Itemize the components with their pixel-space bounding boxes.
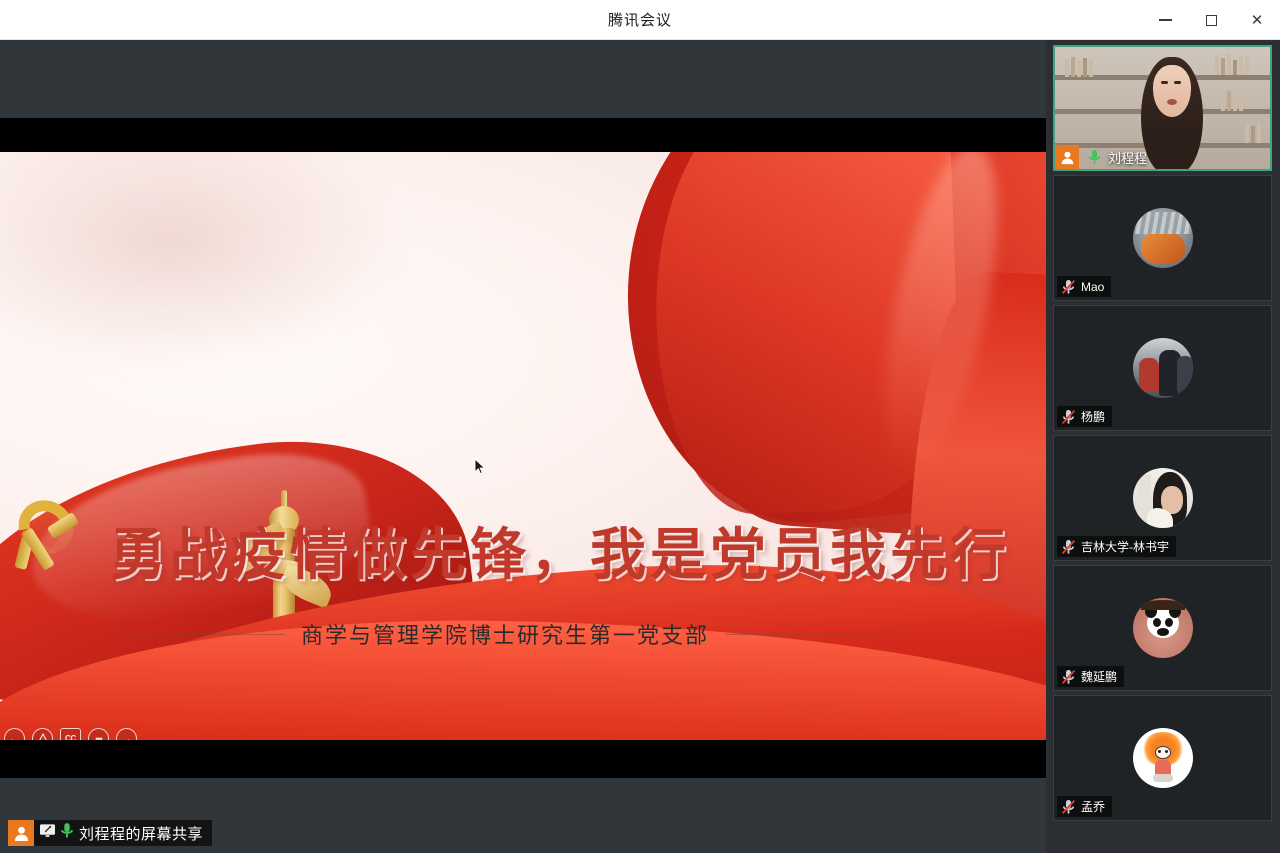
participant-tile-3[interactable]: 吉林大学-林书宇 xyxy=(1053,435,1272,561)
minimize-button[interactable] xyxy=(1142,0,1188,40)
mic-off-icon-4 xyxy=(1061,669,1076,685)
slide-subtitle: 商学与管理学院博士研究生第一党支部 xyxy=(301,618,709,650)
participant-avatar-4 xyxy=(1133,598,1193,658)
mic-off-icon-3 xyxy=(1061,539,1076,555)
close-icon: ✕ xyxy=(1251,11,1264,29)
participant-name-tag-0: 刘程程 xyxy=(1055,145,1147,169)
minimize-icon xyxy=(1159,19,1172,20)
subtitle-rule-left xyxy=(40,634,285,635)
participant-name-5: 孟乔 xyxy=(1081,798,1105,815)
maximize-icon xyxy=(1206,15,1217,26)
closed-captions-button[interactable]: CC xyxy=(60,728,81,740)
slideshow-control-bar: ← CC ••• → xyxy=(4,728,137,740)
participant-name-0: 刘程程 xyxy=(1108,148,1147,167)
presentation-slide: 中华人民共和国万岁 世界人民大团结万岁 勇战疫情做先锋，我是党员我先行 xyxy=(0,152,1046,740)
mic-on-icon-0 xyxy=(1087,149,1102,165)
participant-avatar-3 xyxy=(1133,468,1193,528)
participant-tile-2[interactable]: 杨鹏 xyxy=(1053,305,1272,431)
participant-name-tag-3: 吉林大学-林书宇 xyxy=(1057,536,1176,557)
mouse-cursor xyxy=(474,458,486,476)
microphone-on-icon xyxy=(59,822,75,844)
cpc-emblem-icon xyxy=(14,497,86,573)
pen-icon xyxy=(37,733,49,740)
participant-name-1: Mao xyxy=(1081,280,1104,294)
participant-name-tag-1: Mao xyxy=(1057,276,1111,297)
slide-title: 勇战疫情做先锋，我是党员我先行 xyxy=(110,510,1010,591)
participant-avatar-2 xyxy=(1133,338,1193,398)
mic-off-icon-2 xyxy=(1061,409,1076,425)
pen-tool-button[interactable] xyxy=(32,728,53,740)
shared-screen-area[interactable]: 中华人民共和国万岁 世界人民大团结万岁 勇战疫情做先锋，我是党员我先行 xyxy=(0,40,1046,853)
participant-name-2: 杨鹏 xyxy=(1081,408,1105,425)
more-options-button[interactable]: ••• xyxy=(88,728,109,740)
window-title: 腾讯会议 xyxy=(608,9,672,30)
participant-rail[interactable]: 刘程程 Mao xyxy=(1046,40,1280,853)
person-icon xyxy=(8,820,34,846)
subtitle-rule-right xyxy=(725,634,970,635)
window-controls: ✕ xyxy=(1142,0,1280,40)
participant-tile-0[interactable]: 刘程程 xyxy=(1053,45,1272,171)
participant-tile-4[interactable]: 魏延鹏 xyxy=(1053,565,1272,691)
meeting-stage: 中华人民共和国万岁 世界人民大团结万岁 勇战疫情做先锋，我是党员我先行 xyxy=(0,40,1280,853)
participant-tile-5[interactable]: 孟乔 xyxy=(1053,695,1272,821)
previous-slide-button[interactable]: ← xyxy=(4,728,25,740)
slide-haze xyxy=(0,152,400,372)
letterbox-bottom xyxy=(0,740,1046,778)
next-slide-button[interactable]: → xyxy=(116,728,137,740)
window-title-bar: 腾讯会议 ✕ xyxy=(0,0,1280,40)
maximize-button[interactable] xyxy=(1188,0,1234,40)
participant-avatar-5 xyxy=(1133,728,1193,788)
close-button[interactable]: ✕ xyxy=(1234,0,1280,40)
mic-off-icon-5 xyxy=(1061,799,1076,815)
participant-name-3: 吉林大学-林书宇 xyxy=(1081,538,1169,555)
participant-name-tag-5: 孟乔 xyxy=(1057,796,1112,817)
slide-subtitle-row: 商学与管理学院博士研究生第一党支部 xyxy=(40,618,970,650)
screen-share-icon xyxy=(39,823,56,843)
participant-name-4: 魏延鹏 xyxy=(1081,668,1117,685)
participant-name-tag-4: 魏延鹏 xyxy=(1057,666,1124,687)
share-status-label: 刘程程的屏幕共享 xyxy=(79,823,212,844)
screen-share-status: 刘程程的屏幕共享 xyxy=(8,820,212,846)
participant-tile-1[interactable]: Mao xyxy=(1053,175,1272,301)
participant-avatar-1 xyxy=(1133,208,1193,268)
participant-name-tag-2: 杨鹏 xyxy=(1057,406,1112,427)
share-status-icons xyxy=(34,822,79,844)
arrow-left-icon: ← xyxy=(9,733,20,741)
letterbox-top xyxy=(0,118,1046,152)
host-badge-icon xyxy=(1055,145,1079,169)
mic-off-icon-1 xyxy=(1061,279,1076,295)
arrow-right-icon: → xyxy=(121,733,132,741)
